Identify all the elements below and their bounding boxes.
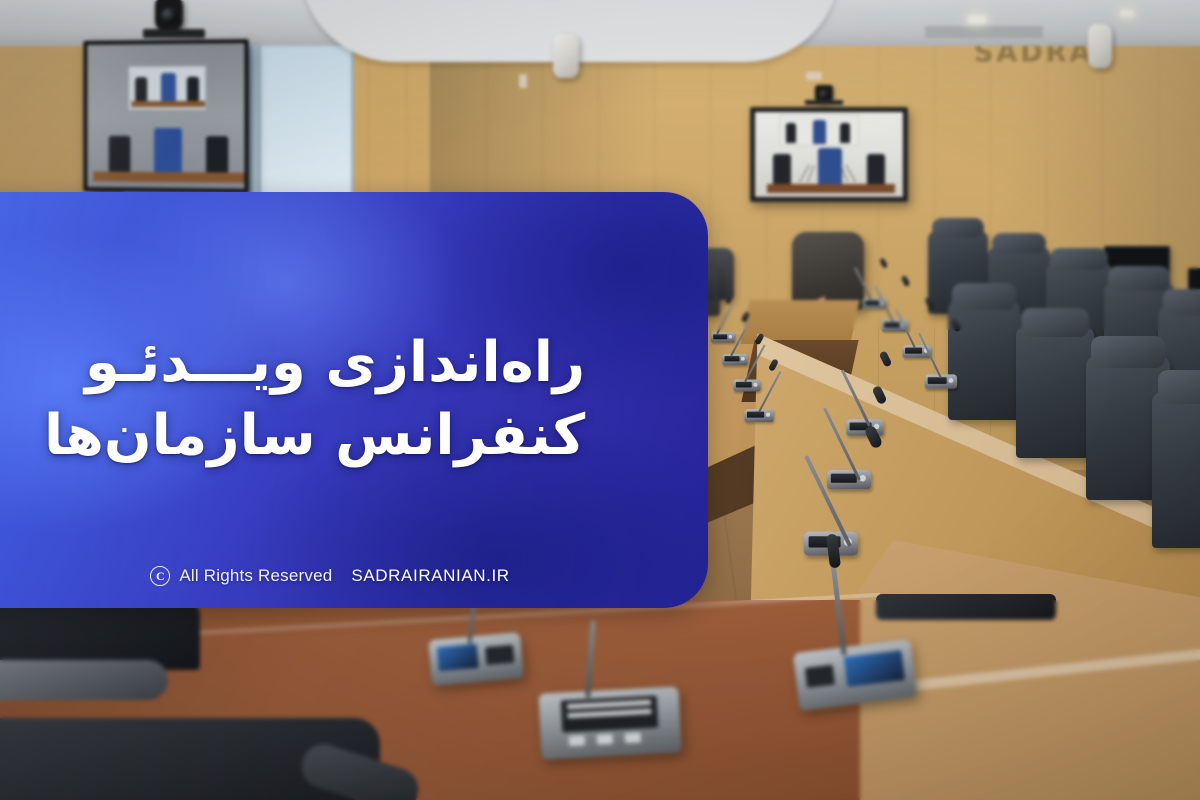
console-key xyxy=(625,732,642,743)
console-key xyxy=(597,734,614,745)
mic-led xyxy=(741,357,745,361)
mic-display xyxy=(905,348,922,354)
copyright-bar: C All Rights Reserved SADRAIRANIAN.IR xyxy=(0,566,708,586)
wall-tv-far xyxy=(750,107,908,202)
console-keys xyxy=(805,665,835,688)
tv-screen xyxy=(87,43,244,189)
mic-display xyxy=(865,300,879,305)
ceiling-light xyxy=(968,15,986,24)
microphone-console xyxy=(538,686,681,759)
page-title: راه‌اندازی ویـــدئـو کنفرانس سازمان‌ها xyxy=(44,327,585,473)
website-url: SADRAIRANIAN.IR xyxy=(351,566,509,586)
microphone-base xyxy=(722,354,748,365)
microphone-console xyxy=(428,632,524,686)
console-key xyxy=(569,735,586,746)
foreground-chair-armrest xyxy=(0,660,168,700)
screen-glare xyxy=(87,43,244,189)
microphone-base xyxy=(733,380,760,392)
foreground-chair xyxy=(876,594,1056,620)
microphone-base xyxy=(711,332,735,343)
tv-chair xyxy=(813,120,826,144)
tv-screen xyxy=(755,112,903,197)
camera-mount xyxy=(805,100,843,105)
console-display xyxy=(437,644,479,671)
wall-speaker xyxy=(1088,24,1112,68)
wall-tv-main xyxy=(83,39,248,193)
chair-headrest xyxy=(932,218,985,236)
headline-line-1: راه‌اندازی ویـــدئـو xyxy=(85,330,585,395)
mic-display xyxy=(736,382,752,388)
chair-headrest xyxy=(992,233,1047,253)
chair-headrest xyxy=(1163,289,1200,316)
mic-display xyxy=(747,412,764,418)
copyright-icon: C xyxy=(150,566,170,586)
camera-mount-arm xyxy=(143,29,205,38)
chair xyxy=(1016,326,1094,458)
chairman-chair xyxy=(792,232,864,310)
chair-headrest xyxy=(1091,336,1165,368)
wall-plate xyxy=(519,74,527,88)
mic-display xyxy=(831,474,857,483)
ceiling-light xyxy=(1120,10,1134,17)
headline-line-2: کنفرانس سازمان‌ها xyxy=(44,400,585,473)
tv-table xyxy=(767,184,895,193)
chair xyxy=(1152,392,1200,548)
mic-led xyxy=(729,335,733,339)
wall-speaker xyxy=(553,34,579,78)
chair xyxy=(948,300,1020,420)
mic-display xyxy=(928,377,947,384)
mic-display xyxy=(884,322,900,327)
tv-chair xyxy=(840,123,850,143)
tv-chair xyxy=(867,154,885,188)
chair-headrest xyxy=(1108,266,1170,291)
ptz-camera-icon xyxy=(155,0,183,30)
mic-display xyxy=(713,334,727,339)
title-overlay-panel: راه‌اندازی ویـــدئـو کنفرانس سازمان‌ها C… xyxy=(0,192,708,608)
chair-headrest xyxy=(1050,248,1108,270)
ceiling-vent xyxy=(925,26,1043,38)
console-keys xyxy=(485,645,514,665)
overlay-content: راه‌اندازی ویـــدئـو کنفرانس سازمان‌ها xyxy=(0,192,708,608)
mic-led xyxy=(766,412,770,416)
tv-chair xyxy=(786,123,796,143)
banner-image: SADRA xyxy=(0,0,1200,800)
microphone-base xyxy=(827,470,871,490)
tv-picture-in-picture xyxy=(779,114,859,146)
camera-wall-plate xyxy=(806,72,822,80)
mic-led xyxy=(753,383,757,387)
chair-headrest xyxy=(952,283,1015,309)
chair-headrest xyxy=(1021,308,1090,337)
chair-headrest xyxy=(1158,370,1200,404)
copyright-text: All Rights Reserved xyxy=(179,566,332,586)
mic-led xyxy=(949,378,954,383)
mic-display xyxy=(725,356,740,361)
console-display xyxy=(844,650,905,687)
tv-chair xyxy=(773,154,791,188)
